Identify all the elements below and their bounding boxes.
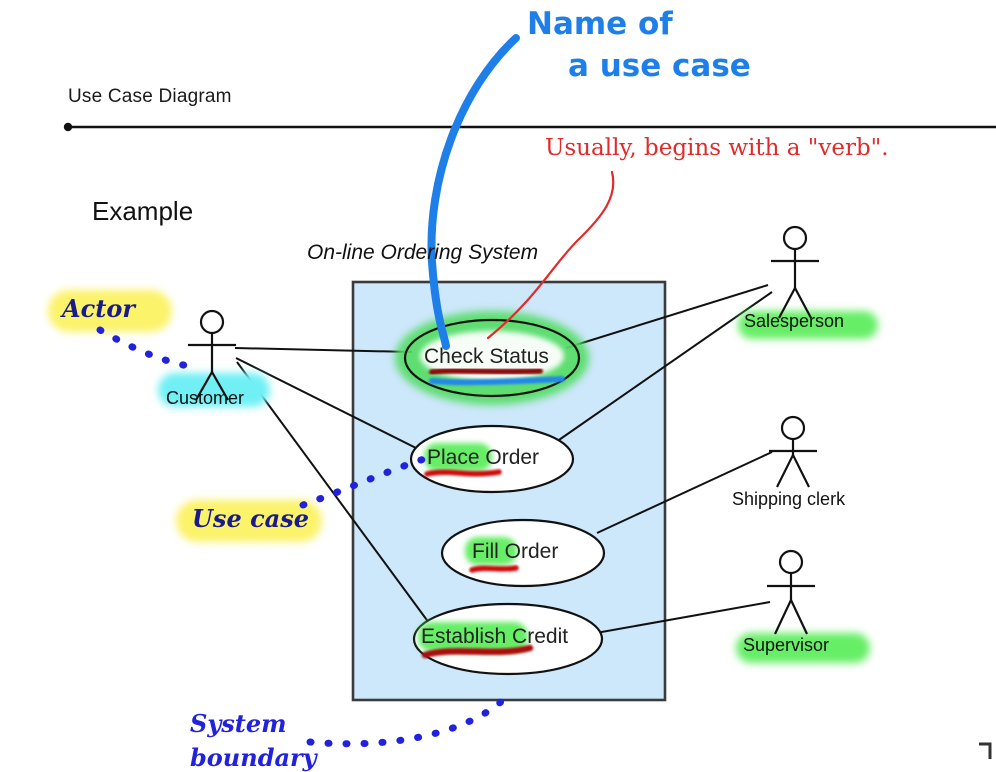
underline-fill-red [472, 568, 516, 570]
use-case-rest-place-order: Order [480, 446, 540, 469]
underline-check-status-red [432, 371, 540, 372]
use-case-label-check-status[interactable]: Check Status [424, 345, 549, 369]
actor-supervisor-figure [767, 551, 815, 634]
actor-salesperson-figure [771, 227, 819, 318]
use-case-verb-establish-credit: Establish [421, 625, 506, 648]
underline-place-red [427, 472, 499, 474]
annotation-verb-note: Usually, begins with a "verb". [545, 135, 889, 161]
underline-check-status-blue [432, 379, 562, 382]
actor-label-supervisor[interactable]: Supervisor [743, 635, 829, 656]
actor-label-customer[interactable]: Customer [166, 388, 244, 409]
use-case-rest-fill-order: Order [499, 540, 559, 563]
use-case-verb-check-status: Check [424, 345, 484, 368]
underline-establish-red [425, 648, 530, 655]
dotted-leader-system-boundary [310, 700, 503, 744]
actor-label-shipping-clerk[interactable]: Shipping clerk [732, 489, 845, 510]
annotation-actor-callout: Actor [62, 294, 135, 323]
example-label: Example [92, 196, 193, 227]
corner-mark [979, 744, 990, 759]
annotation-name-of-use-case-line1: Name of [527, 6, 673, 42]
title-rule [64, 123, 996, 131]
actor-label-salesperson[interactable]: Salesperson [744, 311, 844, 332]
annotation-usecase-callout: Use case [192, 504, 309, 533]
slide-canvas: Use Case Diagram Example On-line Orderin… [0, 0, 996, 765]
dotted-leader-actor [100, 330, 200, 368]
diagram-svg [0, 0, 996, 765]
page-title: Use Case Diagram [68, 86, 232, 108]
use-case-label-fill-order[interactable]: Fill Order [472, 540, 558, 564]
actor-shipping-clerk-figure [769, 417, 817, 487]
system-title: On-line Ordering System [307, 241, 538, 265]
use-case-rest-check-status: Status [484, 345, 549, 368]
annotation-name-of-use-case-line2: a use case [568, 48, 751, 84]
use-case-verb-fill-order: Fill [472, 540, 499, 563]
use-case-label-place-order[interactable]: Place Order [427, 446, 539, 470]
use-case-verb-place-order: Place [427, 446, 480, 469]
annotation-system-boundary-line2: boundary [190, 743, 317, 772]
annotation-system-boundary-line1: System [190, 709, 287, 738]
use-case-rest-establish-credit: Credit [506, 625, 568, 648]
use-case-label-establish-credit[interactable]: Establish Credit [421, 625, 568, 649]
